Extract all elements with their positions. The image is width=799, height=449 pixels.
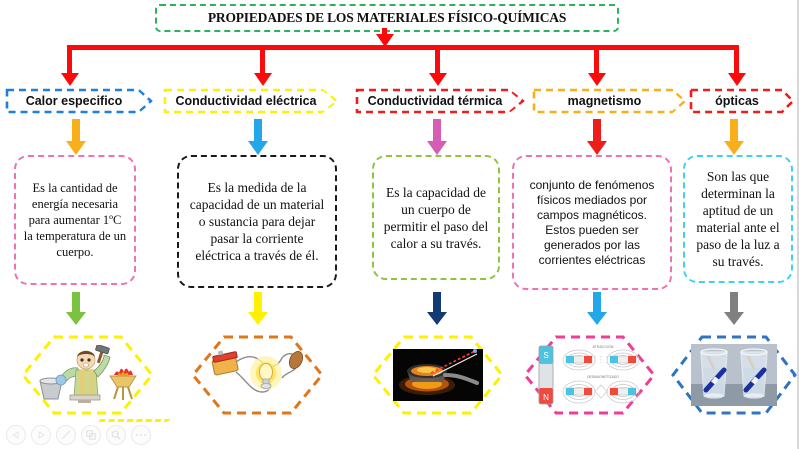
header-label: ópticas — [715, 94, 769, 108]
image-cell-opticas — [670, 334, 798, 416]
description-text: conjunto de fenómenos físicos mediados p… — [521, 178, 663, 268]
header-conductividad-electrica[interactable]: Conductividad eléctrica — [163, 88, 339, 114]
arrow-top-opticas — [722, 119, 746, 155]
arrow-top-calor-especifico — [64, 119, 88, 155]
more-button[interactable] — [131, 425, 151, 445]
search-icon — [111, 430, 121, 440]
zoom-button[interactable] — [106, 425, 126, 445]
blacksmith-forge-image — [36, 345, 140, 405]
arrow-bottom-conductividad-electrica — [246, 292, 270, 328]
refraction-glasses-image — [691, 344, 777, 406]
header-label: Calor especifico — [26, 94, 133, 108]
description-opticas: Son las que determinan la aptitud de un … — [683, 155, 793, 283]
header-label: Conductividad térmica — [368, 94, 513, 108]
svg-text:DESMAGNETIZADO: DESMAGNETIZADO — [587, 375, 619, 379]
svg-text:N: N — [543, 393, 549, 402]
arrow-top-conductividad-termica — [425, 119, 449, 155]
thermal-pan-image — [393, 349, 483, 401]
svg-text:S: S — [543, 351, 548, 360]
layers-icon — [86, 430, 96, 440]
triangle-left-icon — [12, 431, 20, 439]
triangle-right-icon — [37, 431, 45, 439]
description-text: Son las que determinan la aptitud de un … — [692, 168, 784, 270]
description-magnetismo: conjunto de fenómenos físicos mediados p… — [512, 155, 672, 290]
light-bulb-circuit-image — [208, 346, 308, 404]
arrow-bottom-magnetismo — [585, 292, 609, 328]
diagram-title-box: PROPIEDADES DE LOS MATERIALES FÍSICO-QUÍ… — [155, 4, 619, 32]
arrow-top-conductividad-electrica — [246, 119, 270, 155]
diagram-title-text: PROPIEDADES DE LOS MATERIALES FÍSICO-QUÍ… — [208, 10, 566, 26]
duplicate-button[interactable] — [81, 425, 101, 445]
description-calor-especifico: Es la cantidad de energía necesaria para… — [14, 155, 136, 285]
description-conductividad-electrica: Es la medida de la capacidad de un mater… — [177, 155, 337, 288]
header-label: magnetismo — [568, 94, 652, 108]
ellipsis-icon — [135, 433, 147, 437]
header-opticas[interactable]: ópticas — [689, 88, 795, 114]
pencil-icon — [61, 430, 71, 440]
image-cell-conductividad-electrica — [190, 334, 325, 416]
next-button[interactable] — [31, 425, 51, 445]
header-calor-especifico[interactable]: Calor especifico — [5, 88, 153, 114]
image-cell-calor-especifico — [20, 334, 155, 416]
header-magnetismo[interactable]: magnetismo — [532, 88, 687, 114]
previous-button[interactable] — [6, 425, 26, 445]
arrow-bottom-conductividad-termica — [425, 292, 449, 328]
header-label: Conductividad eléctrica — [175, 94, 326, 108]
image-cell-conductividad-termica — [370, 334, 505, 416]
description-text: Es la cantidad de energía necesaria para… — [23, 180, 127, 260]
magnet-field-lines-image: S N ATRACCIÓN DESMAGNET — [535, 342, 645, 408]
image-cell-magnetismo: S N ATRACCIÓN DESMAGNET — [522, 334, 657, 416]
description-conductividad-termica: Es la capacidad de un cuerpo de permitir… — [372, 155, 500, 280]
connector-horizontal-bar — [67, 45, 739, 50]
edit-button[interactable] — [56, 425, 76, 445]
arrow-top-magnetismo — [585, 119, 609, 155]
description-text: Es la medida de la capacidad de un mater… — [186, 179, 328, 264]
diagram-canvas: PROPIEDADES DE LOS MATERIALES FÍSICO-QUÍ… — [0, 0, 799, 449]
arrow-bottom-opticas — [722, 292, 746, 328]
svg-text:ATRACCIÓN: ATRACCIÓN — [592, 344, 613, 349]
arrow-bottom-calor-especifico — [64, 292, 88, 328]
header-conductividad-termica[interactable]: Conductividad térmica — [355, 88, 525, 114]
description-text: Es la capacidad de un cuerpo de permitir… — [381, 184, 491, 252]
bottom-toolbar — [6, 425, 151, 445]
